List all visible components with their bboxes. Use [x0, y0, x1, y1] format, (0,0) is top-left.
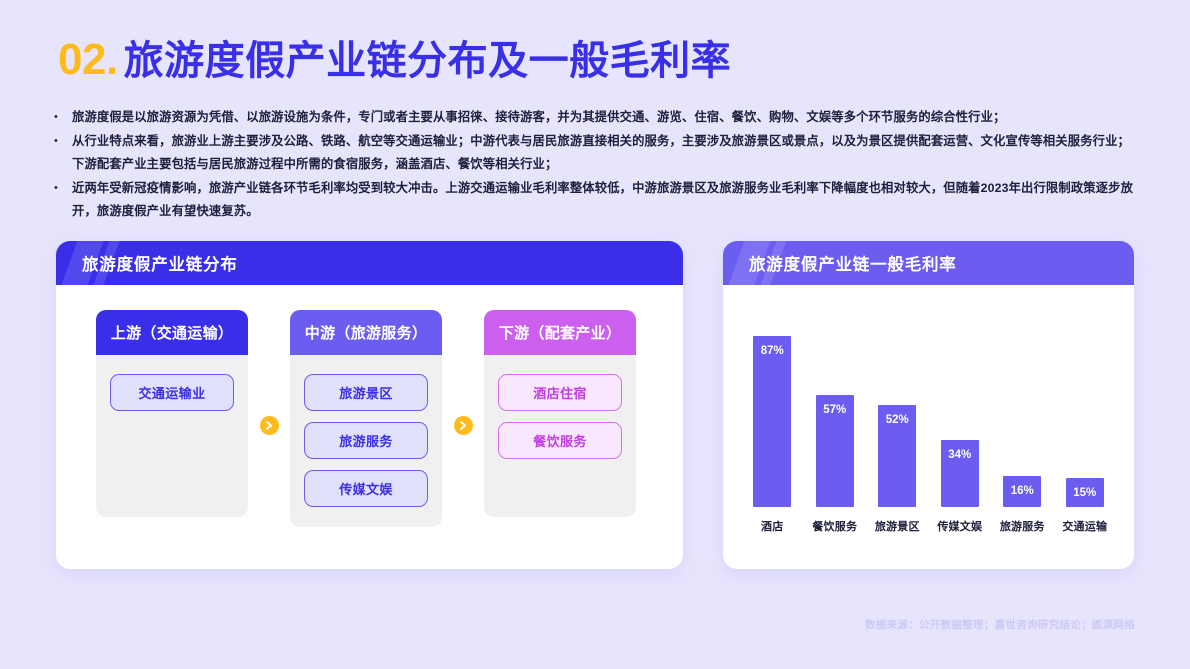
bullet-text: 下游配套产业主要包括与居民旅游过程中所需的食宿服务，涵盖酒店、餐饮等相关行业； — [72, 154, 557, 175]
bar-column: 57% — [806, 311, 864, 507]
bar[interactable]: 15% — [1066, 478, 1104, 507]
bullet-item: 下游配套产业主要包括与居民旅游过程中所需的食宿服务，涵盖酒店、餐饮等相关行业； — [50, 154, 1155, 175]
chain-column-wrapper: 上游（交通运输）交通运输业 — [96, 310, 248, 517]
bullet-item: •旅游度假是以旅游资源为凭借、以旅游设施为条件，专门或者主要从事招徕、接待游客，… — [50, 107, 1155, 128]
chain-item[interactable]: 酒店住宿 — [498, 374, 622, 411]
chevron-right-icon — [454, 416, 473, 435]
bar-column: 52% — [868, 311, 926, 507]
bar-category-label: 餐饮服务 — [806, 518, 864, 534]
bullet-dot-icon: • — [50, 107, 72, 127]
margin-panel-header: 旅游度假产业链一般毛利率 — [723, 241, 1134, 285]
chain-item[interactable]: 餐饮服务 — [498, 422, 622, 459]
source-note: 数据来源：公开数据整理；嘉世咨询研究结论；图源网络 — [865, 617, 1135, 632]
bullet-item: •近两年受新冠疫情影响，旅游产业链各环节毛利率均受到较大冲击。上游交通运输业毛利… — [50, 178, 1155, 199]
bar-category-label: 传媒文娱 — [931, 518, 989, 534]
bar-value-label: 15% — [1073, 487, 1096, 499]
bar-series: 87%57%52%34%16%15% — [741, 311, 1116, 507]
bar-chart: 87%57%52%34%16%15% 酒店餐饮服务旅游景区传媒文娱旅游服务交通运… — [723, 285, 1134, 569]
chain-arrow-slot — [248, 416, 290, 435]
bullet-text: 开，旅游度假产业有望快速复苏。 — [72, 201, 259, 222]
chain-columns: 上游（交通运输）交通运输业中游（旅游服务）旅游景区旅游服务传媒文娱下游（配套产业… — [56, 310, 683, 527]
chain-panel-title: 旅游度假产业链分布 — [82, 251, 238, 275]
chain-panel-header: 旅游度假产业链分布 — [56, 241, 683, 285]
chain-column-header: 下游（配套产业） — [484, 310, 636, 355]
chain-column-mid: 中游（旅游服务）旅游景区旅游服务传媒文娱 — [290, 310, 442, 527]
chain-column-header: 中游（旅游服务） — [290, 310, 442, 355]
bar-value-label: 52% — [886, 414, 909, 426]
bullet-dot-icon: • — [50, 131, 72, 151]
bar-value-label: 34% — [948, 449, 971, 461]
bullet-list: •旅游度假是以旅游资源为凭借、以旅游设施为条件，专门或者主要从事招徕、接待游客，… — [50, 107, 1155, 225]
chain-item[interactable]: 旅游景区 — [304, 374, 428, 411]
bar-category-label: 交通运输 — [1056, 518, 1114, 534]
gross-margin-panel: 旅游度假产业链一般毛利率 87%57%52%34%16%15% 酒店餐饮服务旅游… — [723, 241, 1134, 569]
chain-item[interactable]: 旅游服务 — [304, 422, 428, 459]
chain-item-list: 交通运输业 — [96, 355, 248, 517]
bar-value-label: 16% — [1011, 485, 1034, 497]
chevron-right-icon — [260, 416, 279, 435]
bar-column: 16% — [993, 311, 1051, 507]
chain-item-list: 酒店住宿餐饮服务 — [484, 355, 636, 517]
bar-column: 34% — [931, 311, 989, 507]
bar[interactable]: 52% — [878, 405, 916, 507]
bar[interactable]: 57% — [816, 395, 854, 507]
margin-panel-title: 旅游度假产业链一般毛利率 — [749, 251, 957, 275]
bar-category-label: 旅游景区 — [868, 518, 926, 534]
chain-item-list: 旅游景区旅游服务传媒文娱 — [290, 355, 442, 527]
bar-category-label: 旅游服务 — [993, 518, 1051, 534]
bullet-item: 开，旅游度假产业有望快速复苏。 — [50, 201, 1155, 222]
chain-column-wrapper: 中游（旅游服务）旅游景区旅游服务传媒文娱 — [290, 310, 442, 527]
bullet-text: 近两年受新冠疫情影响，旅游产业链各环节毛利率均受到较大冲击。上游交通运输业毛利率… — [72, 178, 1133, 199]
bullet-item: •从行业特点来看，旅游业上游主要涉及公路、铁路、航空等交通运输业；中游代表与居民… — [50, 131, 1155, 152]
bar-category-label: 酒店 — [743, 518, 801, 534]
chain-column-wrapper: 下游（配套产业）酒店住宿餐饮服务 — [484, 310, 636, 517]
chain-column-header: 上游（交通运输） — [96, 310, 248, 355]
bar-value-label: 57% — [823, 404, 846, 416]
chain-column-down: 下游（配套产业）酒店住宿餐饮服务 — [484, 310, 636, 517]
bar[interactable]: 87% — [753, 336, 791, 507]
section-number: 02. — [58, 35, 118, 85]
bullet-dot-icon: • — [50, 178, 72, 198]
bar[interactable]: 34% — [941, 440, 979, 507]
chain-item[interactable]: 交通运输业 — [110, 374, 234, 411]
bar-category-labels: 酒店餐饮服务旅游景区传媒文娱旅游服务交通运输 — [741, 518, 1116, 534]
bullet-text: 从行业特点来看，旅游业上游主要涉及公路、铁路、航空等交通运输业；中游代表与居民旅… — [72, 131, 1130, 152]
bullet-text: 旅游度假是以旅游资源为凭借、以旅游设施为条件，专门或者主要从事招徕、接待游客，并… — [72, 107, 1006, 128]
chain-column-up: 上游（交通运输）交通运输业 — [96, 310, 248, 517]
bar-column: 87% — [743, 311, 801, 507]
industry-chain-panel: 旅游度假产业链分布 上游（交通运输）交通运输业中游（旅游服务）旅游景区旅游服务传… — [56, 241, 683, 569]
section-title: 旅游度假产业链分布及一般毛利率 — [124, 28, 732, 86]
chain-arrow-slot — [442, 416, 484, 435]
chain-body: 上游（交通运输）交通运输业中游（旅游服务）旅游景区旅游服务传媒文娱下游（配套产业… — [56, 285, 683, 569]
page-title: 02. 旅游度假产业链分布及一般毛利率 — [58, 28, 731, 86]
bar-value-label: 87% — [761, 345, 784, 357]
bar[interactable]: 16% — [1003, 476, 1041, 507]
chain-item[interactable]: 传媒文娱 — [304, 470, 428, 507]
bar-column: 15% — [1056, 311, 1114, 507]
